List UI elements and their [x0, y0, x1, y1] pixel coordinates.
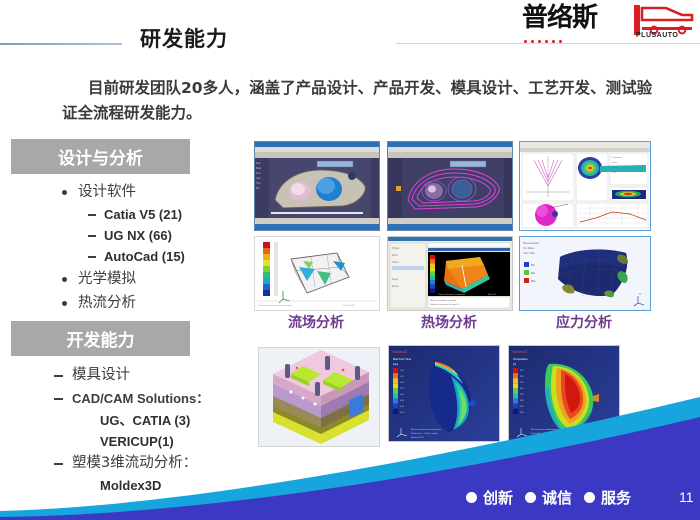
svg-text:Jan 28, 2011: Jan 28, 2011 — [343, 305, 356, 307]
figure-caption: 流场分析 — [254, 312, 378, 332]
svg-text:Stress Analysis: Stress Analysis — [523, 242, 540, 245]
svg-text:Steps: Steps — [392, 278, 399, 281]
list-item: 模具设计 — [0, 364, 240, 387]
footer-slogan-item: 诚信 — [542, 487, 572, 508]
page-title: 研发能力 — [140, 27, 228, 51]
svg-text:Trim: Trim — [256, 182, 261, 185]
svg-text:Flux: Flux — [612, 172, 616, 174]
svg-text:Result: Result — [612, 166, 618, 169]
svg-text:Temperature: Temperature — [513, 357, 528, 361]
figure-caption: 热场分析 — [387, 312, 511, 332]
figure-thermal-field-analysis: ProjectMesh SolverResult StepsExport — [387, 236, 513, 311]
svg-text:Fill: Fill — [256, 187, 260, 190]
svg-text:Moldex3D: Moldex3D — [393, 350, 408, 354]
list-item: 光学模拟 — [0, 267, 240, 291]
svg-text:[sec]: [sec] — [393, 363, 398, 366]
figure-cad-headlamp-wireframe-model — [387, 141, 513, 231]
logo-english-text: PLUSAUTO — [636, 32, 678, 39]
svg-text:Join: Join — [256, 177, 261, 180]
section-header-development: 开发能力 — [11, 321, 190, 356]
svg-text:Max: Max — [531, 280, 536, 283]
svg-text:[C]: [C] — [513, 363, 516, 366]
svg-text:Min: Min — [531, 264, 536, 267]
svg-text:Project: Project — [392, 247, 400, 250]
svg-text:Thermal Gradient Max Temperatu: Thermal Gradient Max Temperature — [258, 304, 293, 307]
svg-text:Mesh: Mesh — [392, 254, 399, 257]
svg-text:Mid: Mid — [531, 272, 536, 275]
svg-text:Parameter: Parameter — [612, 156, 622, 159]
list-item: AutoCad (15) — [0, 246, 240, 267]
bullet-dot-icon — [525, 492, 536, 503]
footer-slogan-item: 服务 — [601, 487, 631, 508]
title-rule-left — [0, 43, 122, 45]
list-item: UG NX (66) — [0, 225, 240, 246]
bullet-dot-icon — [466, 492, 477, 503]
list-item: 设计软件 — [0, 180, 240, 204]
svg-text:Units: MPa: Units: MPa — [523, 252, 535, 255]
svg-text:Thermal Gradient Temperature: Thermal Gradient Temperature — [438, 293, 466, 296]
intro-paragraph: 目前研发团队20多人，涵盖了产品设计、产品开发、模具设计、工艺开发、测试验证全流… — [62, 76, 662, 126]
figure-optical-simulation-results: ParameterValue ResultFlux — [519, 141, 651, 231]
svg-text:Surf: Surf — [256, 172, 261, 175]
list-item: 热流分析 — [0, 291, 240, 315]
section-header-design: 设计与分析 — [11, 139, 190, 174]
figure-cad-headlamp-surface-model: PartBodySurf JoinTrimFill — [254, 141, 380, 231]
bullet-list-design: 设计软件 Catia V5 (21) UG NX (66) AutoCad (1… — [0, 180, 240, 315]
logo-chinese-text: 普络斯 — [522, 4, 597, 32]
company-logo: 普络斯 PLUSAUTO — [522, 4, 694, 44]
svg-text:Part: Part — [256, 162, 261, 165]
svg-text:Melt Front Time: Melt Front Time — [393, 357, 412, 361]
svg-text:Solution converged at step 40: Solution converged at step 40 — [430, 303, 460, 306]
page-number: 11 — [679, 489, 694, 505]
figure-caption: 应力分析 — [519, 312, 649, 332]
svg-text:Node set solution imported: Node set solution imported — [430, 299, 457, 302]
logo-accent-dots — [524, 30, 630, 34]
svg-text:Body: Body — [256, 167, 262, 170]
svg-text:Max 87.5: Max 87.5 — [488, 294, 497, 296]
footer-slogan-group: 创新 诚信 服务 — [466, 487, 637, 508]
svg-text:Von Mises: Von Mises — [523, 247, 535, 250]
svg-text:Moldex3D: Moldex3D — [513, 350, 528, 354]
slide-root: 研发能力 普络斯 PLUSAUTO 目前研发团队20多人，涵盖了产品设计、产品开… — [0, 0, 700, 520]
bullet-dot-icon — [584, 492, 595, 503]
car-icon — [632, 5, 694, 35]
figure-flow-field-analysis: Thermal Gradient Max Temperature Jan 28,… — [254, 236, 380, 311]
figure-stress-analysis: Stress Analysis Von Mises Units: MPa Min… — [519, 236, 651, 311]
svg-text:Export: Export — [392, 285, 399, 288]
list-item: Catia V5 (21) — [0, 204, 240, 225]
svg-text:Solver: Solver — [392, 261, 399, 264]
footer-slogan-item: 创新 — [483, 487, 513, 508]
